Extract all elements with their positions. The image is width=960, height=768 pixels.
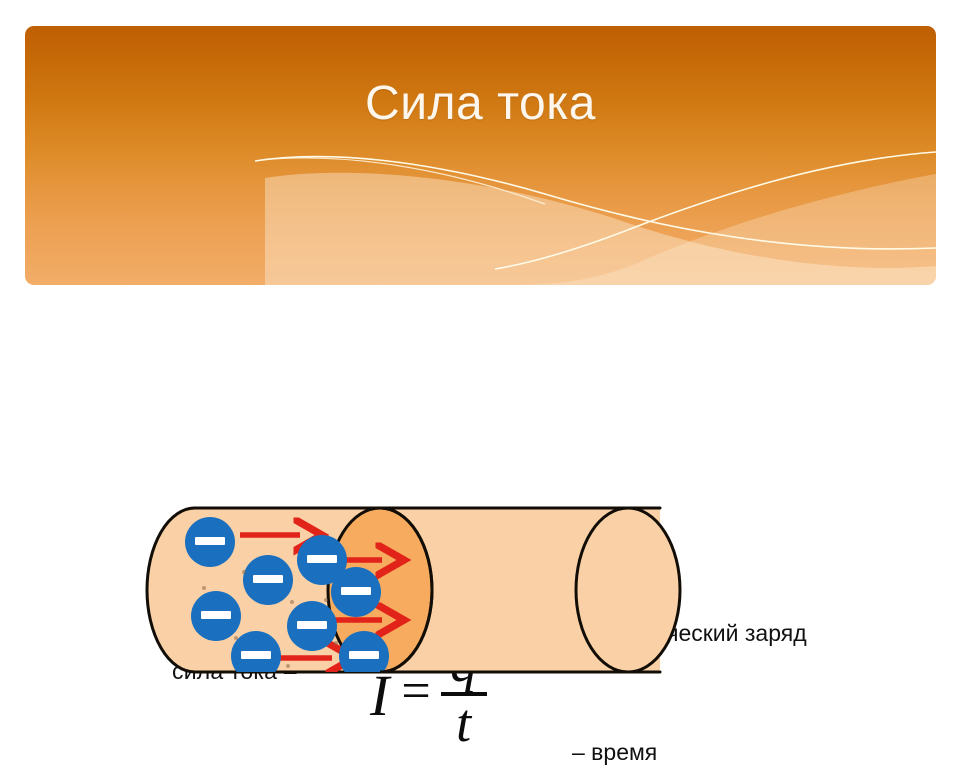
conductor-diagram (140, 480, 740, 680)
title-banner: Сила тока (25, 26, 936, 285)
electron (185, 517, 235, 567)
formula-denominator-t: t (450, 696, 477, 751)
slide-root: Сила тока сила тока – I = q t – электрич… (0, 0, 960, 720)
page-title: Сила тока (25, 78, 936, 131)
cylinder-right-cap (576, 508, 680, 672)
electron (287, 601, 337, 651)
electron (243, 555, 293, 605)
electron (331, 567, 381, 617)
label-time: – время (560, 738, 810, 768)
banner-decoration-swooshes (25, 26, 936, 285)
conductor-diagram-svg (140, 480, 740, 680)
formula-area: сила тока – I = q t – электрический заря… (0, 300, 960, 495)
electron (191, 591, 241, 641)
